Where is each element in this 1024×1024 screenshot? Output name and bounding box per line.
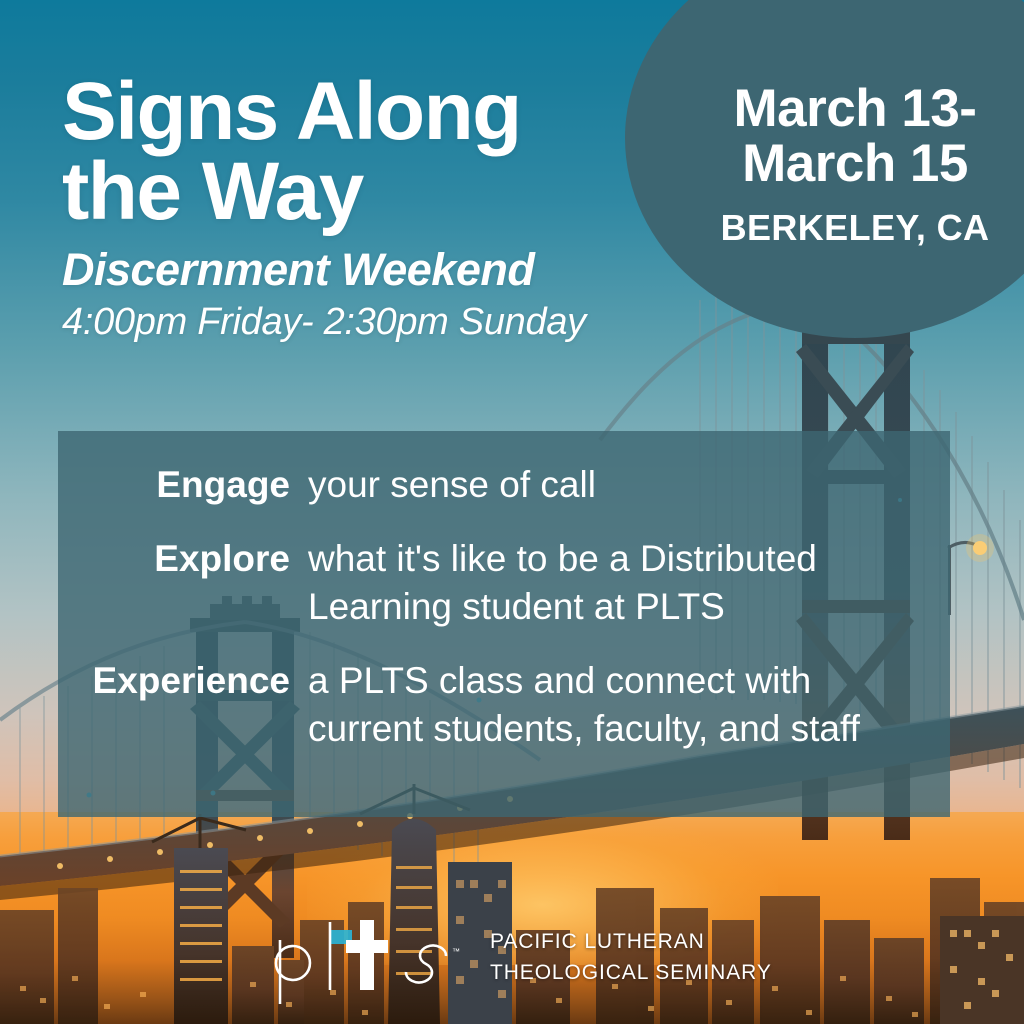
headline-block: Signs Along the Way Discernment Weekend … xyxy=(62,72,662,344)
details-panel: Engage your sense of call Explore what i… xyxy=(58,431,950,817)
org-name-line-1: PACIFIC LUTHERAN xyxy=(490,926,772,958)
detail-row-explore: Explore what it's like to be a Distribut… xyxy=(58,535,950,631)
event-times: 4:00pm Friday- 2:30pm Sunday xyxy=(62,301,662,345)
event-flyer: March 13- March 15 BERKELEY, CA Signs Al… xyxy=(0,0,1024,1024)
detail-description: what it's like to be a Distributed Learn… xyxy=(308,535,950,631)
svg-text:™: ™ xyxy=(452,947,460,956)
detail-keyword: Engage xyxy=(58,461,308,508)
detail-row-engage: Engage your sense of call xyxy=(58,461,950,509)
detail-description: your sense of call xyxy=(308,461,950,509)
event-subtitle: Discernment Weekend xyxy=(62,245,662,295)
organization-name: PACIFIC LUTHERAN THEOLOGICAL SEMINARY xyxy=(490,926,772,989)
detail-keyword: Explore xyxy=(58,535,308,582)
event-title-line-2: the Way xyxy=(62,152,662,232)
detail-keyword: Experience xyxy=(58,657,308,704)
detail-row-experience: Experience a PLTS class and connect with… xyxy=(58,657,950,753)
plts-logo-lockup: ™ PACIFIC LUTHERAN THEOLOGICAL SEMINARY xyxy=(268,914,772,1006)
location-label: BERKELEY, CA xyxy=(721,207,990,249)
org-name-line-2: THEOLOGICAL SEMINARY xyxy=(490,957,772,989)
detail-description: a PLTS class and connect with current st… xyxy=(308,657,950,753)
cross-t-glyph xyxy=(346,920,388,990)
event-title-line-1: Signs Along xyxy=(62,72,662,152)
date-line-1: March 13- xyxy=(734,81,977,136)
date-line-2: March 15 xyxy=(742,136,968,191)
plts-logomark-icon: ™ xyxy=(268,914,468,1006)
